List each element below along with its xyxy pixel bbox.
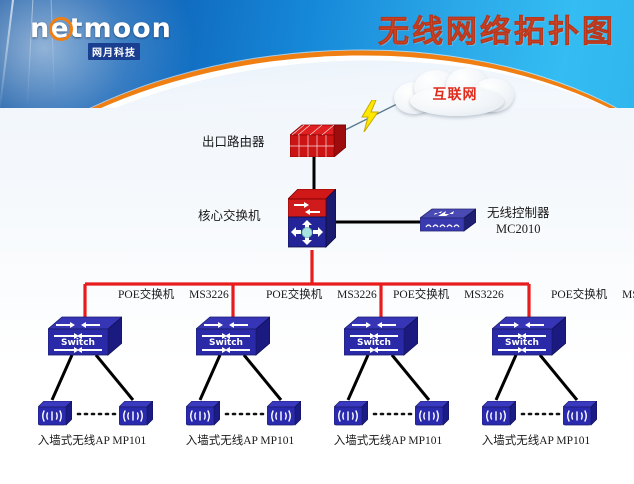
poe-switch-1-icon-text: Switch	[61, 338, 95, 348]
link-poe1-ap1	[52, 355, 72, 400]
poe-3-label-line2: MS3226	[452, 289, 504, 301]
ap-4-label-line2: MP101	[556, 435, 590, 447]
poe-4-label-line2: MS3226	[610, 289, 634, 301]
ap-3-label-line2: MP101	[408, 435, 442, 447]
access-point-group-1-label: 入墙式无线AP MP101	[22, 434, 162, 449]
wlc-label-line1: 无线控制器	[487, 206, 550, 220]
ap-1-label-line2: MP101	[112, 435, 146, 447]
link-poe2-ap1	[200, 355, 220, 400]
link-poe3-ap2	[392, 355, 429, 400]
wireless-controller-icon[interactable]	[420, 208, 476, 236]
access-point-icon[interactable]	[334, 401, 368, 427]
access-point-icon[interactable]	[482, 401, 516, 427]
poe-4-label-line1: POE交换机	[551, 289, 607, 301]
poe-switch-4-icon-text: Switch	[505, 338, 539, 348]
poe-1-label-line2: MS3226	[177, 289, 229, 301]
poe-switch-2-label: POE交换机 MS3226	[266, 288, 377, 303]
poe-switch-3-icon[interactable]: Switch	[344, 315, 418, 357]
ap-1-label-line1: 入墙式无线AP	[38, 435, 110, 447]
core-switch-label: 核心交换机	[198, 209, 261, 225]
wlc-label-line2: MC2010	[487, 222, 550, 238]
poe-3-label-line1: POE交换机	[393, 289, 449, 301]
core-switch-icon[interactable]	[288, 189, 336, 253]
link-poe3-ap1	[348, 355, 368, 400]
wireless-controller-label: 无线控制器 MC2010	[487, 206, 550, 237]
ap-2-label-line1: 入墙式无线AP	[186, 435, 258, 447]
poe-switch-3-label: POE交换机 MS3226	[393, 288, 504, 303]
poe-1-label-line1: POE交换机	[118, 289, 174, 301]
access-point-group-4-label: 入墙式无线AP MP101	[466, 434, 606, 449]
ap-2-label-line2: MP101	[260, 435, 294, 447]
access-point-group-2-label: 入墙式无线AP MP101	[170, 434, 310, 449]
poe-switch-1-icon[interactable]: Switch	[48, 315, 122, 357]
lightning-bolt-icon	[359, 100, 381, 132]
access-point-icon[interactable]	[186, 401, 220, 427]
link-poe4-ap1	[496, 355, 516, 400]
link-poe2-ap2	[244, 355, 281, 400]
internet-cloud-label: 互联网	[390, 84, 520, 104]
poe-2-label-line2: MS3226	[325, 289, 377, 301]
poe-switch-4-icon[interactable]: Switch	[492, 315, 566, 357]
topology-slide: netmoon 网月科技 无线网络拓扑图	[0, 0, 634, 484]
poe-switch-3-icon-text: Switch	[357, 338, 391, 348]
topology-canvas: 互联网	[0, 0, 634, 484]
poe-switch-1-label: POE交换机 MS3226	[118, 288, 229, 303]
poe-switch-4-label: POE交换机 MS3226	[551, 288, 634, 303]
poe-switch-2-icon[interactable]: Switch	[196, 315, 270, 357]
ap-3-label-line1: 入墙式无线AP	[334, 435, 406, 447]
access-point-group-3-label: 入墙式无线AP MP101	[318, 434, 458, 449]
link-poe4-ap2	[540, 355, 577, 400]
access-point-icon[interactable]	[38, 401, 72, 427]
poe-switch-2-icon-text: Switch	[209, 338, 243, 348]
access-point-icon[interactable]	[415, 401, 449, 427]
egress-router-icon[interactable]	[290, 123, 346, 157]
link-poe1-ap2	[96, 355, 133, 400]
internet-cloud[interactable]: 互联网	[390, 68, 520, 120]
access-point-icon[interactable]	[563, 401, 597, 427]
poe-2-label-line1: POE交换机	[266, 289, 322, 301]
access-point-icon[interactable]	[119, 401, 153, 427]
access-point-icon[interactable]	[267, 401, 301, 427]
ap-4-label-line1: 入墙式无线AP	[482, 435, 554, 447]
egress-router-label: 出口路由器	[202, 135, 265, 151]
